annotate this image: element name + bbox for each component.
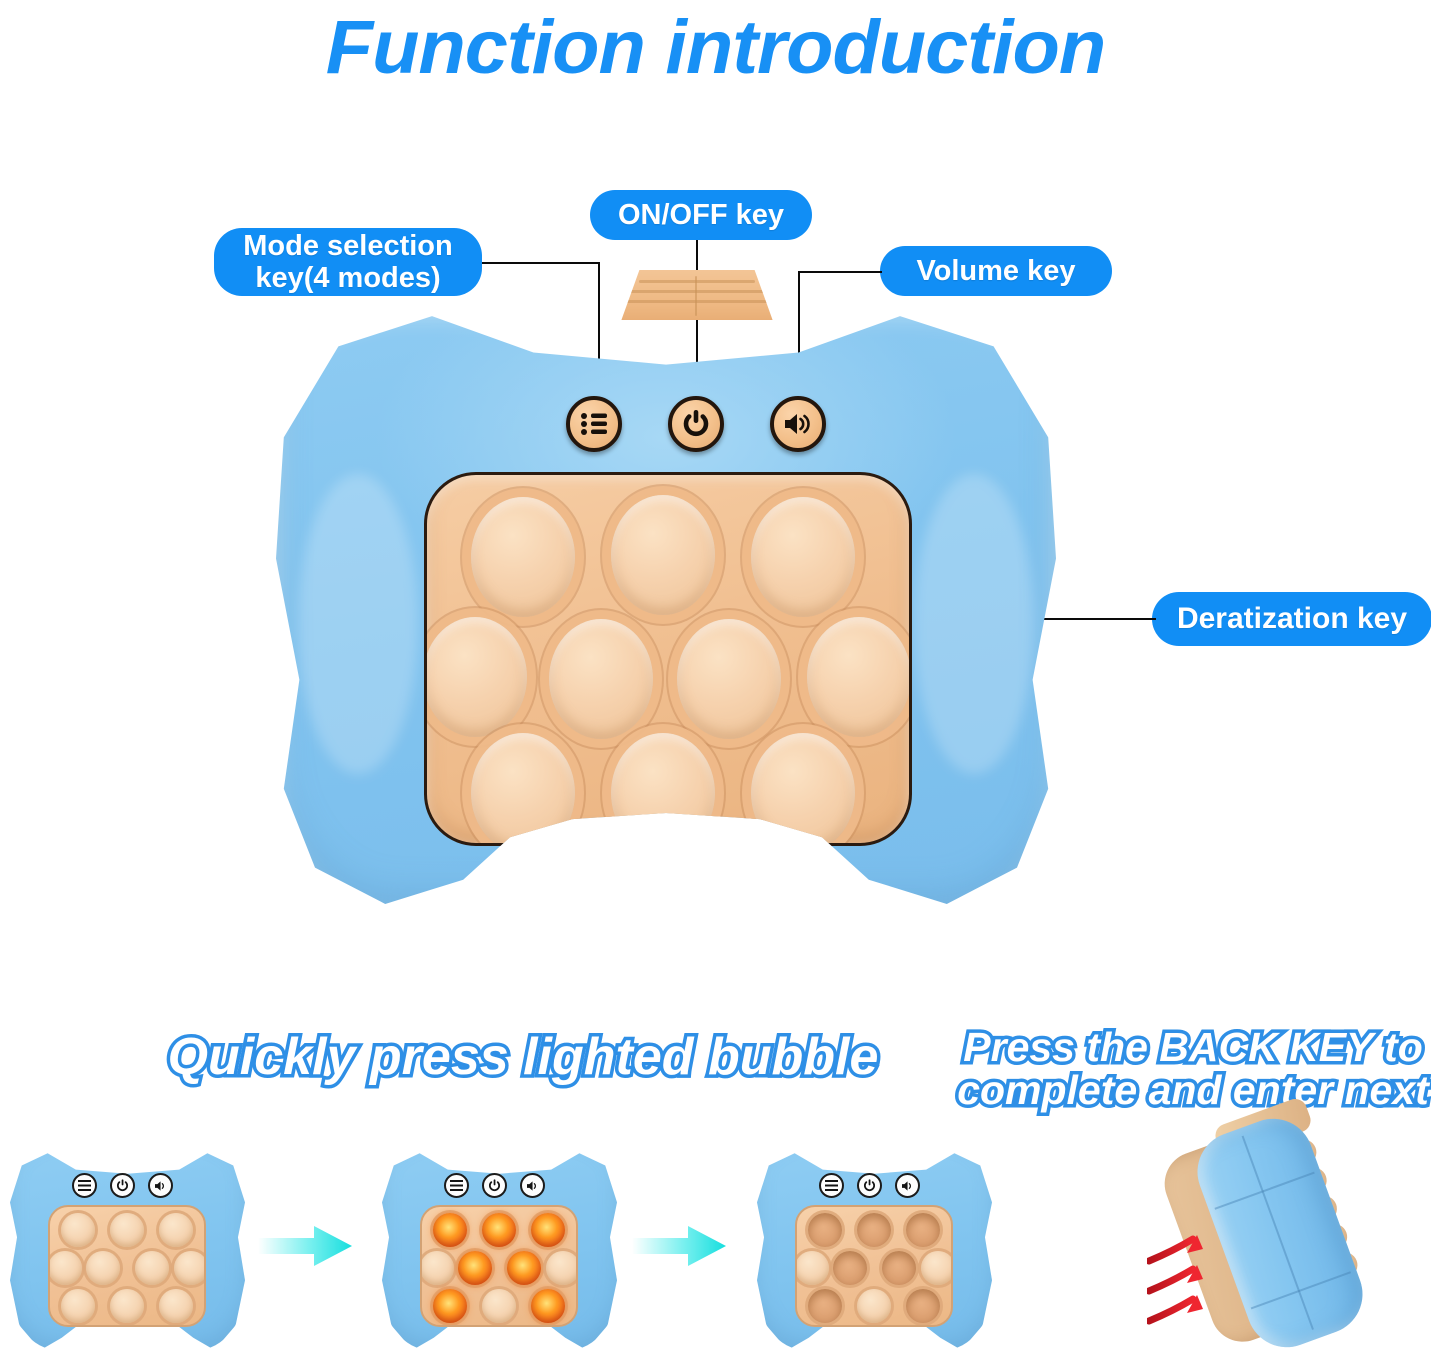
press-direction-arrows bbox=[1147, 1233, 1257, 1343]
bubble[interactable] bbox=[677, 619, 781, 739]
volume-icon bbox=[901, 1180, 915, 1192]
mini-bubble-pressed[interactable] bbox=[906, 1213, 940, 1247]
mini-bubble[interactable] bbox=[110, 1289, 144, 1323]
mini-bubble-lit[interactable] bbox=[507, 1251, 541, 1285]
mini-bubble[interactable] bbox=[857, 1289, 891, 1323]
page-title: Function introduction bbox=[0, 4, 1431, 91]
power-icon bbox=[863, 1179, 876, 1192]
back-key-device bbox=[1155, 1115, 1425, 1359]
seam-horizontal-top bbox=[1214, 1172, 1314, 1210]
mini-bubble-lit[interactable] bbox=[433, 1213, 467, 1247]
mini-mode-button[interactable] bbox=[444, 1173, 469, 1198]
bubble[interactable] bbox=[751, 497, 855, 617]
volume-icon bbox=[526, 1180, 540, 1192]
device-back-shell bbox=[607, 270, 787, 320]
bubble[interactable] bbox=[424, 617, 527, 737]
bubble[interactable] bbox=[611, 733, 715, 846]
flow-arrow bbox=[258, 1222, 354, 1270]
device-grip-right bbox=[914, 474, 1034, 774]
bubble[interactable] bbox=[611, 495, 715, 615]
quickly-press-heading: Quickly press lighted bubble bbox=[128, 1030, 918, 1084]
mini-bubble[interactable] bbox=[61, 1213, 95, 1247]
power-icon bbox=[488, 1179, 501, 1192]
back-key-heading: Press the BACK KEY to complete and enter… bbox=[955, 1026, 1431, 1111]
volume-icon bbox=[154, 1180, 168, 1192]
mini-bubble[interactable] bbox=[135, 1251, 169, 1285]
on-off-key-label: ON/OFF key bbox=[590, 190, 812, 240]
menu-list-icon bbox=[825, 1180, 838, 1191]
mini-bubble-pressed[interactable] bbox=[808, 1289, 842, 1323]
mini-bubble-pressed[interactable] bbox=[808, 1213, 842, 1247]
back-key-heading-line2: complete and enter next bbox=[955, 1069, 1431, 1112]
mini-bubble-pressed[interactable] bbox=[857, 1213, 891, 1247]
mini-volume-button[interactable] bbox=[895, 1173, 920, 1198]
deratization-key-label: Deratization key bbox=[1152, 592, 1431, 646]
mode-selection-button[interactable] bbox=[566, 396, 622, 452]
step-2-lit bbox=[382, 1145, 617, 1350]
mini-bubble[interactable] bbox=[48, 1251, 82, 1285]
power-icon bbox=[681, 409, 711, 439]
mini-bubble-panel bbox=[795, 1205, 953, 1327]
menu-list-icon bbox=[450, 1180, 463, 1191]
mini-power-button[interactable] bbox=[482, 1173, 507, 1198]
mini-bubble[interactable] bbox=[546, 1251, 578, 1285]
mini-bubble[interactable] bbox=[61, 1289, 95, 1323]
step-1-idle bbox=[10, 1145, 245, 1350]
flow-arrow bbox=[632, 1222, 728, 1270]
power-icon bbox=[116, 1179, 129, 1192]
mini-bubble-lit[interactable] bbox=[458, 1251, 492, 1285]
arrow-2 bbox=[1149, 1265, 1203, 1291]
mini-power-button[interactable] bbox=[857, 1173, 882, 1198]
mini-volume-button[interactable] bbox=[520, 1173, 545, 1198]
seam-horizontal-bottom bbox=[1251, 1271, 1351, 1309]
mini-bubble-lit[interactable] bbox=[482, 1213, 516, 1247]
mini-bubble-pressed[interactable] bbox=[882, 1251, 916, 1285]
device-body bbox=[276, 304, 1056, 910]
mini-bubble-panel bbox=[420, 1205, 578, 1327]
mini-bubble-pressed[interactable] bbox=[833, 1251, 867, 1285]
mini-bubble-lit[interactable] bbox=[531, 1289, 565, 1323]
volume-button[interactable] bbox=[770, 396, 826, 452]
mini-bubble-panel bbox=[48, 1205, 206, 1327]
mini-mode-button[interactable] bbox=[72, 1173, 97, 1198]
mini-mode-button[interactable] bbox=[819, 1173, 844, 1198]
mini-bubble-lit[interactable] bbox=[433, 1289, 467, 1323]
mini-bubble[interactable] bbox=[86, 1251, 120, 1285]
main-device bbox=[276, 270, 1056, 910]
mini-bubble[interactable] bbox=[420, 1251, 454, 1285]
mini-bubble[interactable] bbox=[159, 1213, 193, 1247]
bubble[interactable] bbox=[471, 733, 575, 846]
menu-list-icon bbox=[78, 1180, 91, 1191]
mini-bubble[interactable] bbox=[174, 1251, 206, 1285]
mini-bubble[interactable] bbox=[159, 1289, 193, 1323]
step-3-pressed bbox=[757, 1145, 992, 1350]
device-grip-left bbox=[298, 474, 418, 774]
mini-bubble[interactable] bbox=[482, 1289, 516, 1323]
menu-list-icon bbox=[580, 412, 608, 436]
power-button[interactable] bbox=[668, 396, 724, 452]
mini-bubble[interactable] bbox=[795, 1251, 829, 1285]
volume-icon bbox=[783, 411, 813, 437]
arrow-1 bbox=[1149, 1235, 1203, 1261]
back-key-heading-line1: Press the BACK KEY to bbox=[955, 1026, 1431, 1069]
bubble[interactable] bbox=[751, 733, 855, 846]
mini-bubble-pressed[interactable] bbox=[906, 1289, 940, 1323]
mini-bubble-lit[interactable] bbox=[531, 1213, 565, 1247]
infographic-root: Function introduction Mode selection key… bbox=[0, 0, 1431, 1359]
leader-line-mode-horizontal bbox=[482, 262, 600, 264]
bubble[interactable] bbox=[471, 497, 575, 617]
mini-bubble[interactable] bbox=[921, 1251, 953, 1285]
mini-volume-button[interactable] bbox=[148, 1173, 173, 1198]
arrow-3 bbox=[1149, 1295, 1203, 1321]
bubble[interactable] bbox=[549, 619, 653, 739]
bubble[interactable] bbox=[807, 617, 911, 737]
mini-power-button[interactable] bbox=[110, 1173, 135, 1198]
mini-bubble[interactable] bbox=[110, 1213, 144, 1247]
bubble-panel bbox=[424, 472, 912, 846]
